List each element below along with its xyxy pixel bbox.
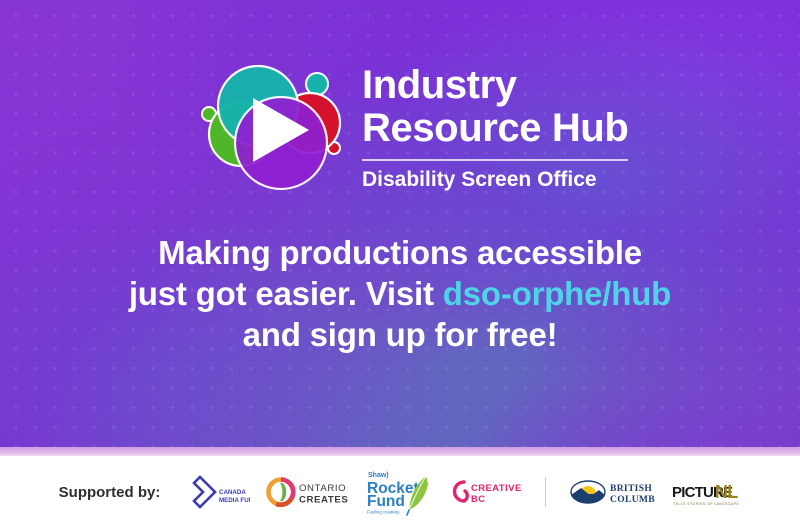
headline-block: Making productions accessible just got e… <box>0 232 800 355</box>
sponsor-picture-nl[interactable]: PICTURE NL TELLS STORIES OF LANDSCAPE <box>671 475 741 509</box>
sponsor-ontario-creates[interactable]: ONTARIO CREATES <box>266 475 350 509</box>
picture-nl-logo-icon: PICTURE NL TELLS STORIES OF LANDSCAPE <box>671 475 741 509</box>
headline-line-2: just got easier. Visit dso-orphe/hub <box>40 273 760 314</box>
sponsor-divider <box>545 477 546 507</box>
picture-nl-tagline: TELLS STORIES OF LANDSCAPE <box>673 502 740 506</box>
fund-word: Fund <box>367 493 405 510</box>
bc-line-2: COLUMBIA <box>610 494 655 505</box>
logo-wordmark: Industry Resource Hub Disability Screen … <box>362 64 628 192</box>
logo-lockup: Industry Resource Hub Disability Screen … <box>196 58 628 198</box>
headline-line-1: Making productions accessible <box>40 232 760 273</box>
creative-bc-logo-icon: CREATIVE BC <box>448 475 522 509</box>
shaw-rocket-fund-logo-icon: Shaw) Rocket Fund Fuelling creativity <box>366 468 432 516</box>
ontario-creates-logo-icon: ONTARIO CREATES <box>266 475 350 509</box>
brand-line-2: Resource Hub <box>362 107 628 150</box>
sponsor-creative-bc[interactable]: CREATIVE BC <box>448 475 522 509</box>
supported-by-label: Supported by: <box>59 484 161 501</box>
accent-strip <box>0 447 800 456</box>
sponsor-canada-media-fund[interactable]: CANADA MEDIA FUND <box>188 473 250 511</box>
cmf-line-2: MEDIA FUND <box>219 497 250 504</box>
british-columbia-logo-icon: BRITISH COLUMBIA <box>569 475 655 509</box>
rocket-fund-tagline: Fuelling creativity <box>367 510 400 515</box>
creative-bc-line-2: BC <box>471 493 486 504</box>
play-circles-logo-icon <box>196 58 346 198</box>
brand-line-1: Industry <box>362 64 628 107</box>
cmf-line-1: CANADA <box>219 489 246 496</box>
promo-poster: Industry Resource Hub Disability Screen … <box>0 0 800 528</box>
sponsor-footer: Supported by: CANADA MEDIA FUND ONTARIO … <box>0 456 800 528</box>
sponsor-british-columbia[interactable]: BRITISH COLUMBIA <box>569 475 655 509</box>
ontario-creates-line-1: ONTARIO <box>299 483 346 494</box>
shaw-eyebrow: Shaw) <box>368 472 389 479</box>
headline-line-3: and sign up for free! <box>40 314 760 355</box>
headline-line-2-text: just got easier. Visit <box>129 275 443 312</box>
creative-bc-line-1: CREATIVE <box>471 482 522 493</box>
brand-divider-rule <box>362 159 628 161</box>
ontario-creates-line-2: CREATES <box>299 495 348 506</box>
sponsor-shaw-rocket-fund[interactable]: Shaw) Rocket Fund Fuelling creativity <box>366 468 432 516</box>
nl-word: NL <box>715 482 738 502</box>
brand-subtitle: Disability Screen Office <box>362 168 628 192</box>
hub-url-link[interactable]: dso-orphe/hub <box>443 275 671 312</box>
canada-media-fund-logo-icon: CANADA MEDIA FUND <box>188 473 250 511</box>
bc-line-1: BRITISH <box>610 483 652 494</box>
